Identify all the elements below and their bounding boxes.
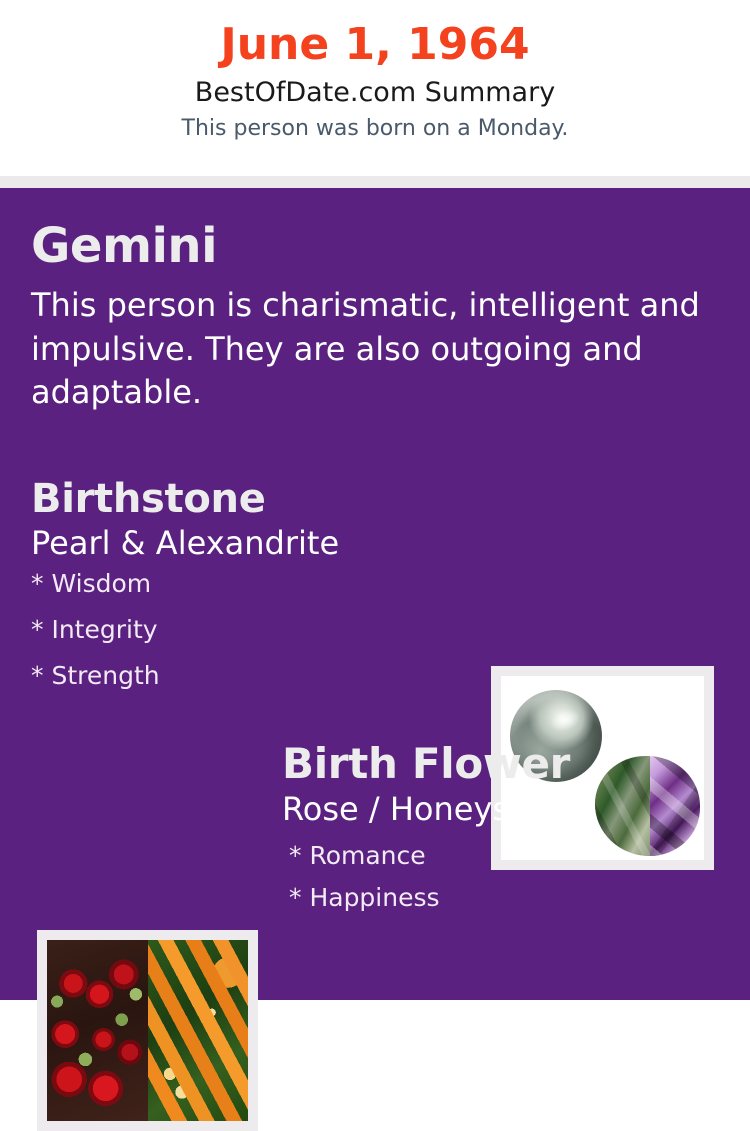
list-item: * Wisdom xyxy=(31,571,339,596)
birth-flower-image-inner xyxy=(47,940,248,1121)
birthstone-traits-list: * Wisdom * Integrity * Strength xyxy=(31,571,339,688)
birthstone-text-block: Birthstone Pearl & Alexandrite * Wisdom … xyxy=(31,478,339,709)
birth-flower-title: Birth Flower xyxy=(282,742,594,786)
birth-flower-text-block: Birth Flower Rose / Honeysuckle * Romanc… xyxy=(282,742,594,927)
birth-flower-subtitle: Rose / Honeysuckle xyxy=(282,792,594,827)
zodiac-description: This person is charismatic, intelligent … xyxy=(31,284,703,415)
birthstone-subtitle: Pearl & Alexandrite xyxy=(31,526,339,561)
birthstone-section: Birthstone Pearl & Alexandrite * Wisdom … xyxy=(0,478,750,693)
header-divider xyxy=(0,176,750,188)
list-item: * Strength xyxy=(31,663,339,688)
birthstone-title: Birthstone xyxy=(31,478,339,520)
zodiac-sign-name: Gemini xyxy=(31,222,711,270)
list-item: * Happiness xyxy=(289,885,594,910)
birth-flower-traits-list: * Romance * Happiness xyxy=(282,843,594,910)
red-roses-photo-half xyxy=(47,940,148,1121)
list-item: * Romance xyxy=(289,843,594,868)
zodiac-section: Gemini This person is charismatic, intel… xyxy=(31,222,711,415)
birth-day-note: This person was born on a Monday. xyxy=(0,115,750,143)
page-title-date: June 1, 1964 xyxy=(0,22,750,68)
list-item: * Integrity xyxy=(31,617,339,642)
birth-flower-section: Birth Flower Rose / Honeysuckle * Romanc… xyxy=(0,742,750,957)
site-summary-subtitle: BestOfDate.com Summary xyxy=(0,76,750,110)
page-header: June 1, 1964 BestOfDate.com Summary This… xyxy=(0,0,750,176)
summary-panel: Gemini This person is charismatic, intel… xyxy=(0,188,750,1000)
birth-flower-image xyxy=(37,930,258,1131)
honeysuckle-photo-half xyxy=(148,940,249,1121)
